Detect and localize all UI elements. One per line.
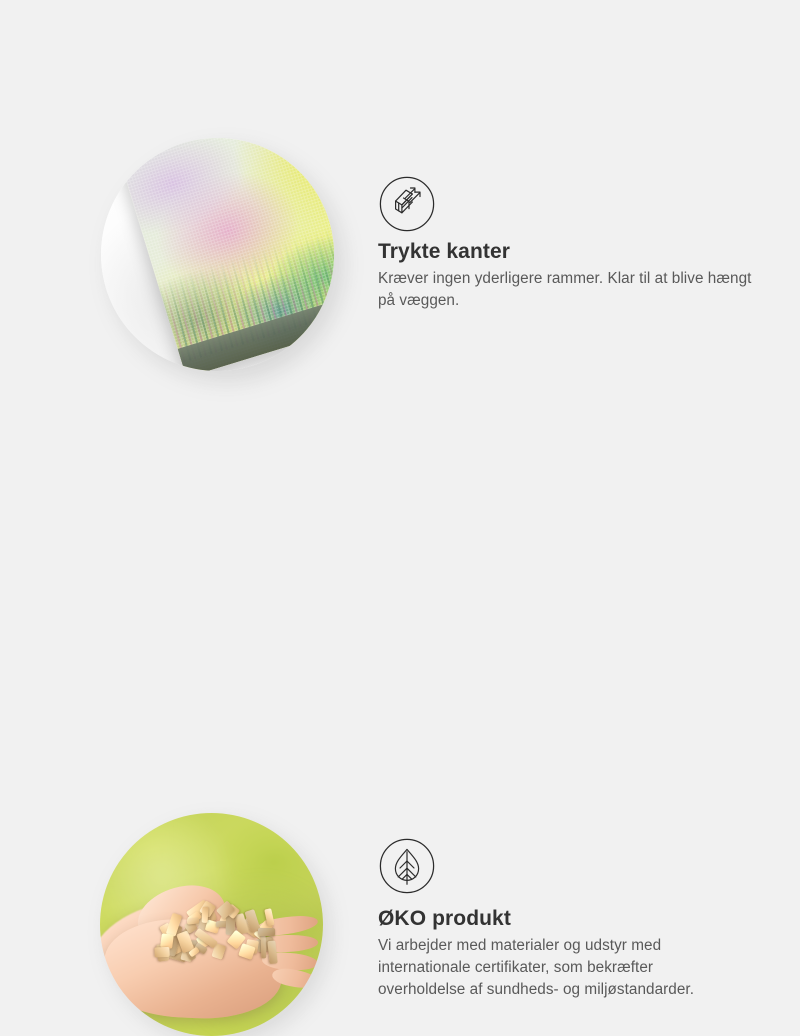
canvas-print-object [111,138,334,371]
feature-description: Vi arbejder med materialer og udstyr med… [378,935,743,1001]
photo-backdrop [100,813,323,1036]
feature-block-eco-product: ØKO produkt Vi arbejder med materialer o… [0,400,800,800]
feature-description: Kræver ingen yderligere rammer. Klar til… [378,268,753,312]
feature-text-printed-edges: Trykte kanter Kræver ingen yderligere ra… [378,239,753,312]
wood-chip [260,935,266,958]
hands-holding-wood-chips-photo [100,813,323,1036]
wood-chip [267,940,278,963]
wood-chip [201,906,208,922]
wood-chip [258,928,275,936]
product-benefits-page: Trykte kanter Kræver ingen yderligere ra… [0,0,800,800]
feature-title: ØKO produkt [378,906,743,932]
wood-chip [160,933,173,948]
feature-title: Trykte kanter [378,239,753,265]
leaf-icon [379,838,435,894]
finger [270,966,319,991]
canvas-print-corner-photo [101,138,334,371]
photo-backdrop [101,138,334,371]
wood-chip [154,947,169,958]
feature-text-eco-product: ØKO produkt Vi arbejder med materialer o… [378,906,743,1001]
feature-block-printed-edges: Trykte kanter Kræver ingen yderligere ra… [0,0,800,400]
wood-chips-pile [154,893,283,969]
folded-canvas-edge-icon [379,176,435,232]
